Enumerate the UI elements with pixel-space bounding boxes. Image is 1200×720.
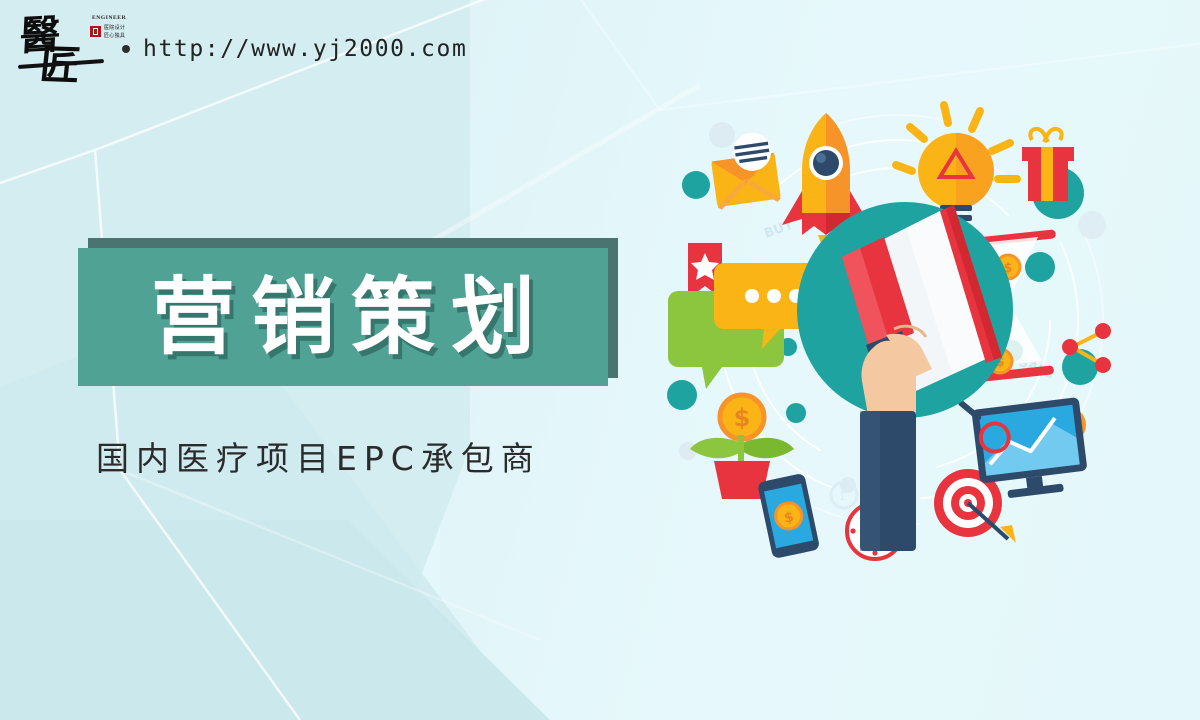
logo[interactable]: 醫 匠 ENGINEER 医院设计 匠心独具 (18, 8, 130, 92)
logo-seal-icon (90, 26, 101, 37)
title-box: 营销策划 (78, 248, 608, 386)
marketing-megaphone-illustration: BUY SALE % NEW GROW f (660, 95, 1130, 565)
logo-english-text: ENGINEER (92, 16, 134, 22)
smartphone-coin-icon: $ (757, 473, 820, 559)
bullet-dot-icon (122, 45, 130, 53)
hand-holding-icon (860, 326, 932, 551)
gift-icon (1022, 129, 1074, 201)
page-subtitle: 国内医疗项目EPC承包商 (96, 432, 541, 480)
poster-canvas: 醫 匠 ENGINEER 医院设计 匠心独具 http://www.yj2000… (0, 0, 1200, 720)
svg-text:$: $ (734, 404, 751, 432)
logo-tagline-line1: 医院设计 (104, 25, 125, 32)
website-url[interactable]: http://www.yj2000.com (122, 36, 467, 62)
header: 醫 匠 ENGINEER 医院设计 匠心独具 http://www.yj2000… (0, 0, 1200, 110)
page-title: 营销策划 (135, 275, 551, 359)
website-url-text: http://www.yj2000.com (143, 36, 467, 62)
title-block: 营销策划 (78, 238, 618, 386)
